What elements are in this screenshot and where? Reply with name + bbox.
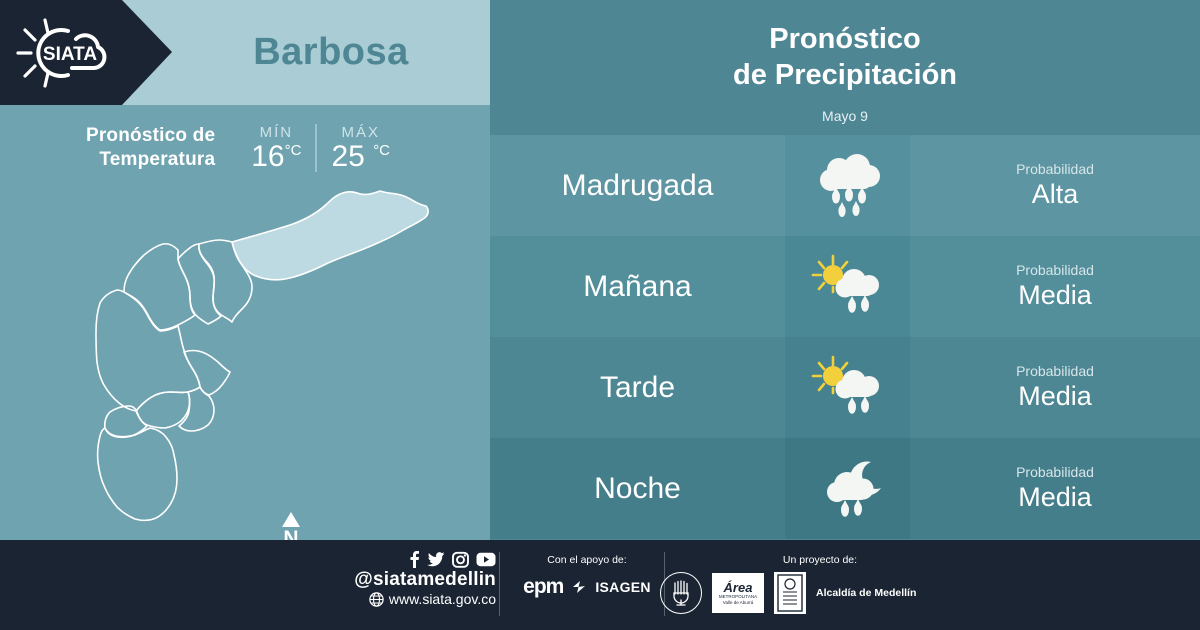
alcaldia-crest-icon: [774, 572, 806, 614]
temperature-max-value: 25 °C: [331, 142, 390, 172]
map-region-barbosa: [232, 191, 428, 280]
sun-rain-cloud-icon: [809, 355, 887, 421]
alcaldia-label: Alcaldía de Medellín: [816, 587, 916, 599]
temperature-max: MÁX 25 °C: [317, 124, 404, 172]
logo-wordmark: SIATA: [43, 44, 97, 65]
table-row[interactable]: Madrugada: [490, 135, 1200, 236]
probability-caption: Probabilidad: [1016, 362, 1094, 380]
youtube-icon[interactable]: [476, 552, 496, 567]
globe-icon: [369, 592, 384, 607]
forecast-title-line2: de Precipitación: [733, 57, 957, 93]
map-region-envigado: [184, 351, 230, 396]
temperature-label: Pronóstico de Temperatura: [86, 124, 215, 172]
temperature-min-caption: MÍN: [251, 124, 301, 141]
social-icons: [316, 550, 496, 568]
temperature-min-unit: °C: [285, 142, 302, 159]
temperature-max-unit: °C: [373, 142, 390, 159]
row-period-label: Madrugada: [490, 135, 785, 236]
forecast-date: Mayo 9: [490, 108, 1200, 134]
forecast-title-line1: Pronóstico: [769, 21, 920, 57]
probability-value: Media: [1018, 481, 1092, 515]
map-region-bello: [124, 244, 195, 330]
probability-value: Alta: [1032, 178, 1079, 212]
temperature-min: MÍN 16°C: [237, 124, 317, 172]
probability-value: Media: [1018, 380, 1092, 414]
rain-cloud-icon: [809, 153, 887, 219]
table-row[interactable]: Tarde: [490, 337, 1200, 438]
north-arrow-icon: [282, 512, 300, 527]
support-block: Con el apoyo de: epm ISAGEN: [512, 554, 662, 599]
page-title: Barbosa: [172, 0, 490, 105]
instagram-icon[interactable]: [452, 551, 469, 568]
support-logos: epm ISAGEN: [512, 575, 662, 599]
temperature-min-number: 16: [251, 140, 284, 173]
probability-cell: Probabilidad Alta: [910, 135, 1200, 236]
probability-caption: Probabilidad: [1016, 160, 1094, 178]
facebook-icon[interactable]: [409, 550, 420, 568]
city-header-banner: SIATA Barbosa: [0, 0, 490, 105]
probability-cell: Probabilidad Media: [910, 438, 1200, 539]
table-row[interactable]: Mañana: [490, 236, 1200, 337]
temperature-max-caption: MÁX: [331, 124, 390, 141]
temperature-max-number: 25: [331, 140, 364, 173]
moon-rain-cloud-icon: [809, 456, 887, 522]
probability-caption: Probabilidad: [1016, 463, 1094, 481]
website-url: www.siata.gov.co: [389, 591, 496, 608]
map-region-itagui: [136, 392, 190, 428]
siata-logo: SIATA: [14, 14, 136, 92]
map-region-caldas: [98, 428, 177, 520]
map-region-copacabana: [178, 244, 221, 324]
social-block: @siatamedellin www.siata.gov.co: [316, 550, 496, 608]
epm-logo: epm: [523, 575, 563, 599]
footer-divider-1: [499, 552, 500, 616]
temperature-min-value: 16°C: [251, 142, 301, 172]
weather-icon-cell: [785, 337, 910, 438]
support-caption: Con el apoyo de:: [512, 554, 662, 566]
map-svg: [0, 180, 490, 540]
weather-icon-cell: [785, 236, 910, 337]
area-script: Área: [724, 581, 753, 594]
row-period-label: Tarde: [490, 337, 785, 438]
forecast-title: Pronóstico de Precipitación: [490, 8, 1200, 106]
temperature-label-line2: Temperatura: [86, 148, 215, 172]
infographic-root: SIATA Barbosa Pronóstico de Temperatura …: [0, 0, 1200, 630]
precipitation-panel: Pronóstico de Precipitación Mayo 9 Madru…: [490, 0, 1200, 540]
footer: @siatamedellin www.siata.gov.co Con el a…: [0, 540, 1200, 630]
probability-caption: Probabilidad: [1016, 261, 1094, 279]
map-region-sabaneta: [179, 387, 214, 431]
row-period-label: Noche: [490, 438, 785, 539]
probability-value: Media: [1018, 279, 1092, 313]
aburra-valley-map: N: [0, 180, 490, 540]
temperature-label-line1: Pronóstico de: [86, 124, 215, 148]
area-line2: Valle de Aburrá: [723, 600, 753, 605]
sun-cloud-icon: SIATA: [14, 14, 136, 92]
temperature-block: Pronóstico de Temperatura MÍN 16°C MÁX 2…: [0, 112, 490, 184]
udea-seal-logo: [660, 572, 702, 614]
sun-rain-cloud-icon: [809, 254, 887, 320]
twitter-icon[interactable]: [427, 550, 445, 568]
table-row[interactable]: Noche Probab: [490, 438, 1200, 539]
probability-cell: Probabilidad Media: [910, 337, 1200, 438]
temperature-values: MÍN 16°C MÁX 25 °C: [237, 124, 404, 172]
left-panel: SIATA Barbosa Pronóstico de Temperatura …: [0, 0, 490, 540]
alcaldia-emblem-icon: [774, 572, 806, 614]
weather-icon-cell: [785, 438, 910, 539]
project-block: Un proyecto de:: [660, 554, 920, 614]
website-row[interactable]: www.siata.gov.co: [316, 591, 496, 608]
forecast-rows: Madrugada: [490, 135, 1200, 540]
weather-icon-cell: [785, 135, 910, 236]
project-logos: Área METROPOLITANA Valle de Aburrá Alcal…: [660, 572, 920, 614]
area-metropolitana-logo: Área METROPOLITANA Valle de Aburrá: [712, 573, 764, 613]
social-handle[interactable]: @siatamedellin: [316, 569, 496, 591]
row-period-label: Mañana: [490, 236, 785, 337]
isagen-logo: ISAGEN: [595, 579, 650, 595]
isagen-mark-icon: [572, 580, 586, 594]
probability-cell: Probabilidad Media: [910, 236, 1200, 337]
project-caption: Un proyecto de:: [660, 554, 920, 566]
udea-emblem-icon: [668, 579, 694, 607]
